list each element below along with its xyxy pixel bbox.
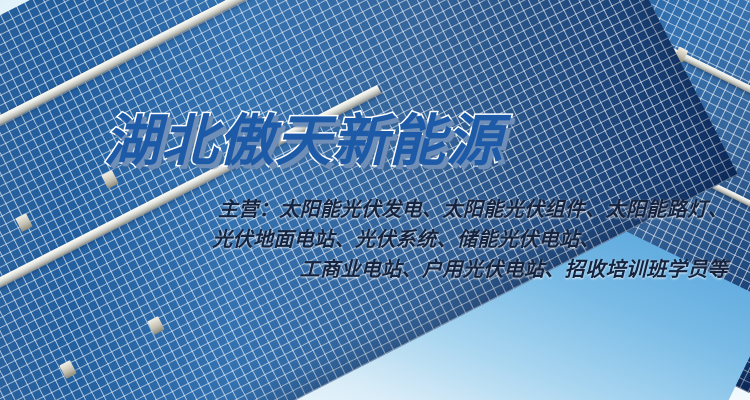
business-scope-line-3: 工商业电站、户用光伏电站、招收培训班学员等 — [128, 254, 728, 284]
business-scope-line-1: 主营：太阳能光伏发电、太阳能光伏组件、太阳能路灯、 — [128, 194, 728, 224]
promotional-banner: 湖北傲天新能源 主营：太阳能光伏发电、太阳能光伏组件、太阳能路灯、 光伏地面电站… — [0, 0, 750, 400]
business-scope-text: 主营：太阳能光伏发电、太阳能光伏组件、太阳能路灯、 光伏地面电站、光伏系统、储能… — [128, 194, 728, 284]
business-scope-line-2: 光伏地面电站、光伏系统、储能光伏电站、 — [128, 224, 728, 254]
page-title: 湖北傲天新能源 — [104, 112, 503, 172]
